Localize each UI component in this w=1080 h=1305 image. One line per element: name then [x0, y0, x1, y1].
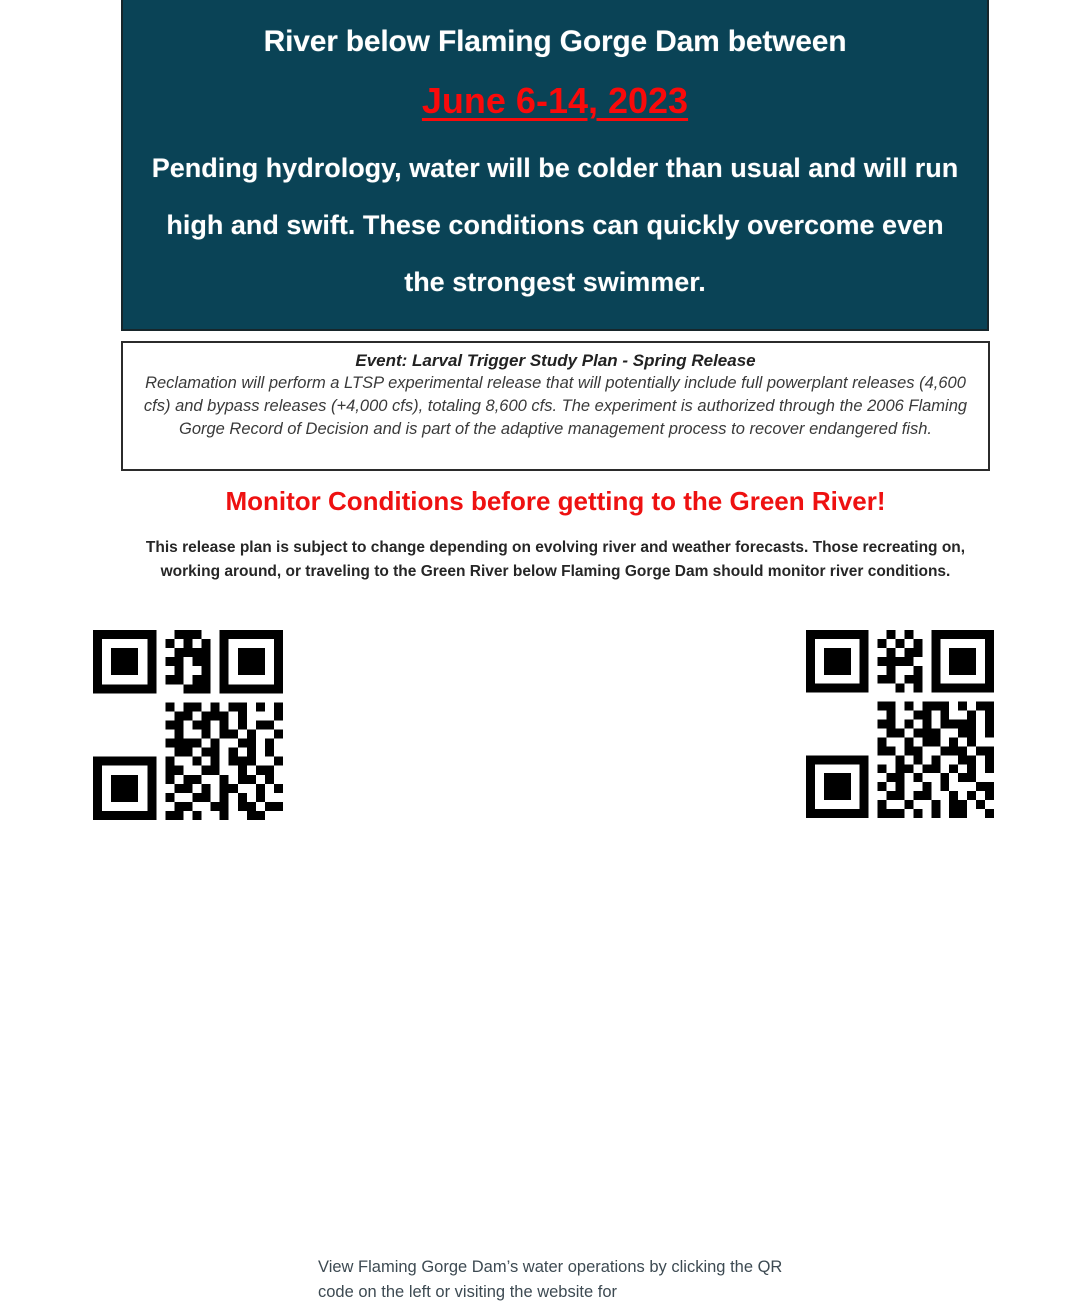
- footer-row: View Flaming Gorge Dam’s water operation…: [0, 625, 1080, 675]
- event-description-text: Reclamation will perform a LTSP experime…: [137, 372, 974, 441]
- alert-date-range: June 6-14, 2023: [422, 78, 688, 124]
- monitor-conditions-headline: Monitor Conditions before getting to the…: [121, 485, 990, 517]
- footer-instruction-text: View Flaming Gorge Dam’s water operation…: [318, 1255, 788, 1305]
- disclaimer-text: This release plan is subject to change d…: [121, 536, 990, 583]
- alert-headline: River below Flaming Gorge Dam between: [264, 22, 847, 62]
- alert-panel: River below Flaming Gorge Dam between Ju…: [121, 0, 989, 331]
- qr-code-secondary[interactable]: [806, 630, 994, 820]
- event-title: Event: Larval Trigger Study Plan - Sprin…: [137, 350, 974, 372]
- event-description-box: Event: Larval Trigger Study Plan - Sprin…: [121, 341, 990, 471]
- qr-code-water-operations[interactable]: [93, 630, 283, 820]
- alert-body-text: Pending hydrology, water will be colder …: [150, 140, 960, 311]
